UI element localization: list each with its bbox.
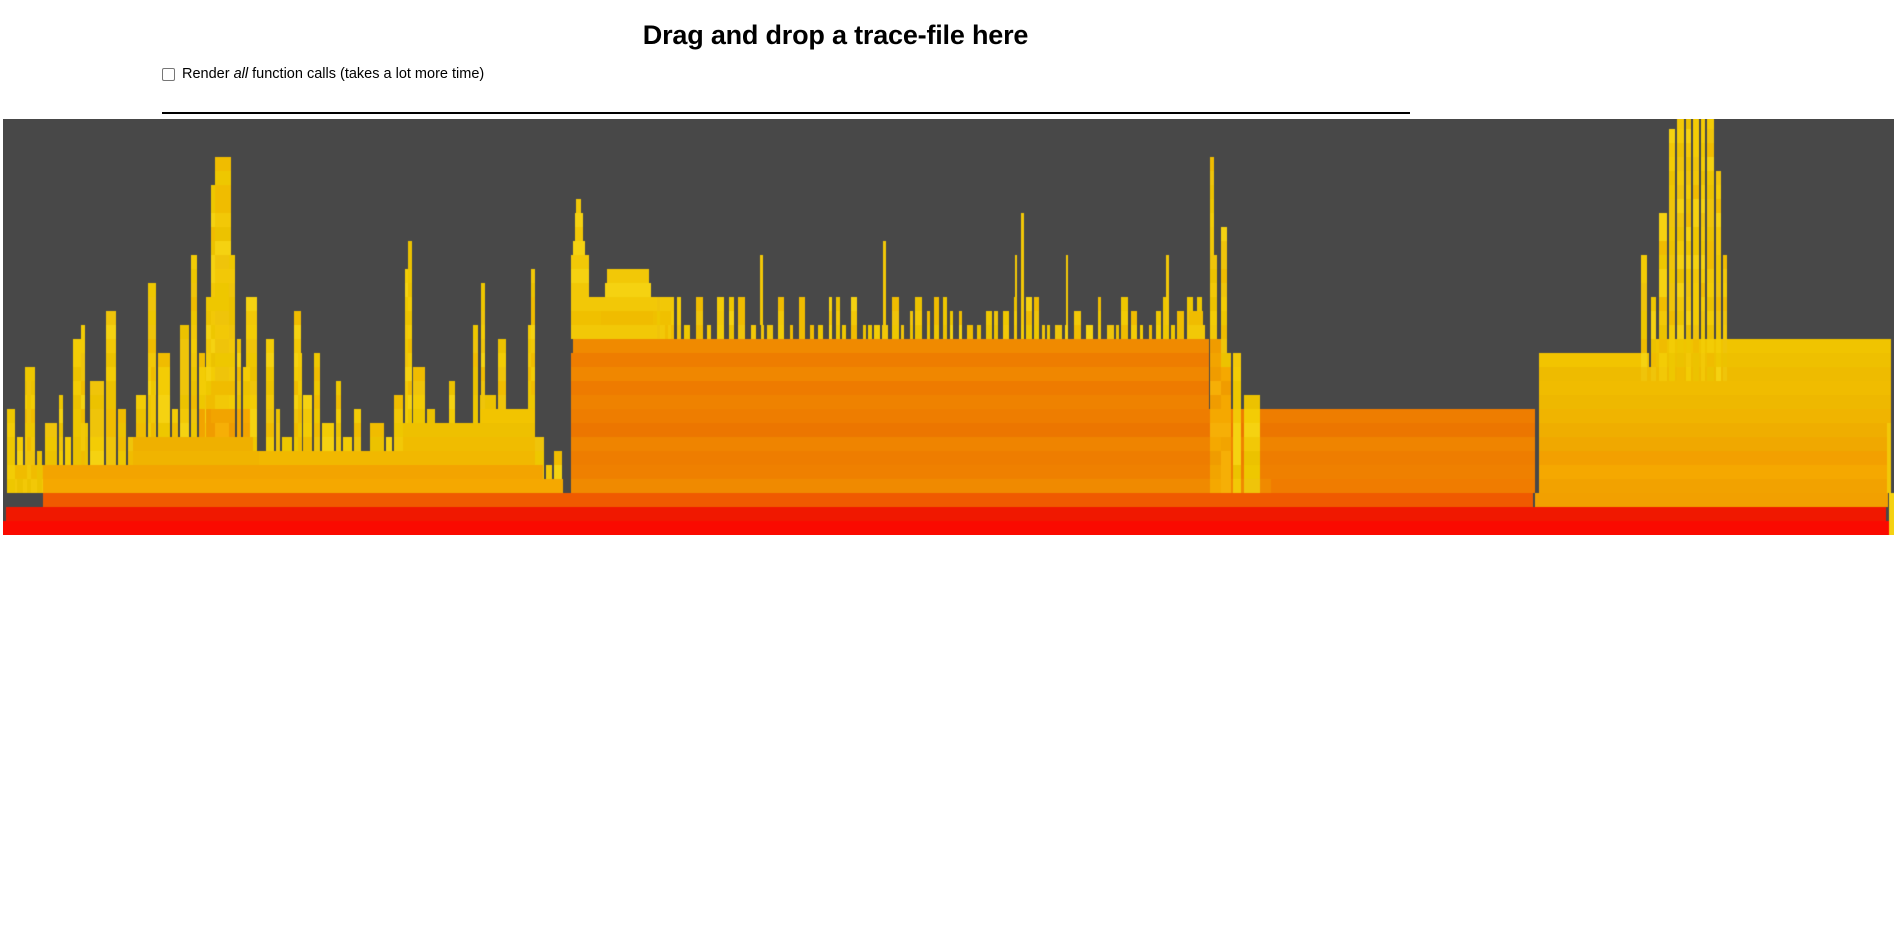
render-all-checkbox-label: Render all function calls (takes a lot m…: [182, 66, 484, 83]
label-suffix: function calls (takes a lot more time): [248, 66, 484, 82]
render-all-checkbox[interactable]: [162, 68, 175, 81]
flamegraph-canvas[interactable]: [3, 119, 1894, 535]
header-divider: [162, 112, 1410, 114]
emphasis-all: all: [234, 66, 249, 82]
render-all-control[interactable]: Render all function calls (takes a lot m…: [162, 66, 484, 83]
page-title: Drag and drop a trace-file here: [0, 0, 1784, 51]
